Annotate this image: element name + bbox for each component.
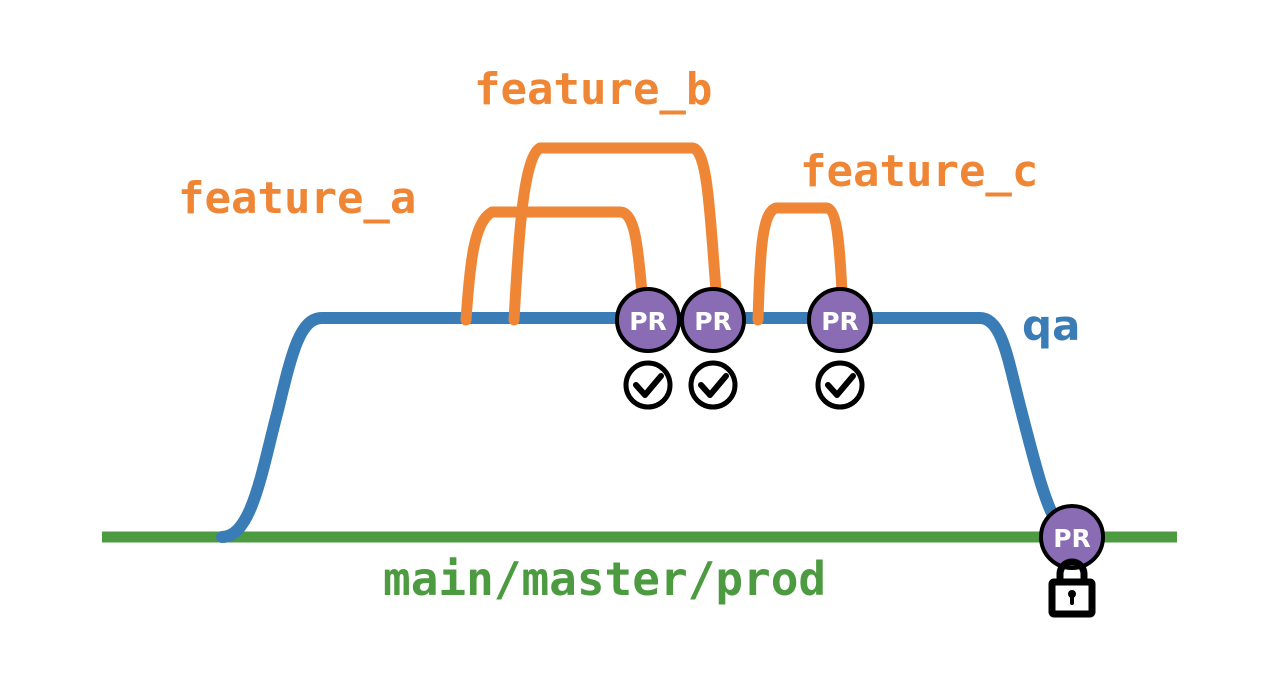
pr-node-label: PR	[1053, 524, 1091, 553]
pr-node-label: PR	[629, 307, 667, 336]
check-circle-icon[interactable]	[691, 363, 735, 407]
pr-node-label: PR	[821, 307, 859, 336]
feature-b-branch-line[interactable]	[514, 148, 716, 320]
diagram-canvas: PR PR PR PR	[0, 0, 1288, 678]
check-circle-icon[interactable]	[626, 363, 670, 407]
check-circle-outline	[818, 363, 862, 407]
branch-label-main: main/master/prod	[383, 552, 826, 606]
feature-a-branch-line[interactable]	[466, 212, 642, 320]
check-circle-outline	[626, 363, 670, 407]
branch-label-feature-c: feature_c	[800, 146, 1038, 197]
pr-node-feature-c[interactable]: PR	[809, 289, 871, 351]
branch-label-feature-b: feature_b	[474, 64, 712, 115]
pr-node-label: PR	[694, 307, 732, 336]
check-circle-outline	[691, 363, 735, 407]
check-circle-icon[interactable]	[818, 363, 862, 407]
pr-node-feature-a[interactable]: PR	[617, 289, 679, 351]
pr-node-feature-b[interactable]: PR	[682, 289, 744, 351]
branch-label-feature-a: feature_a	[178, 173, 416, 224]
branch-label-qa: qa	[1022, 301, 1080, 350]
git-branching-diagram: PR PR PR PR	[0, 0, 1288, 678]
